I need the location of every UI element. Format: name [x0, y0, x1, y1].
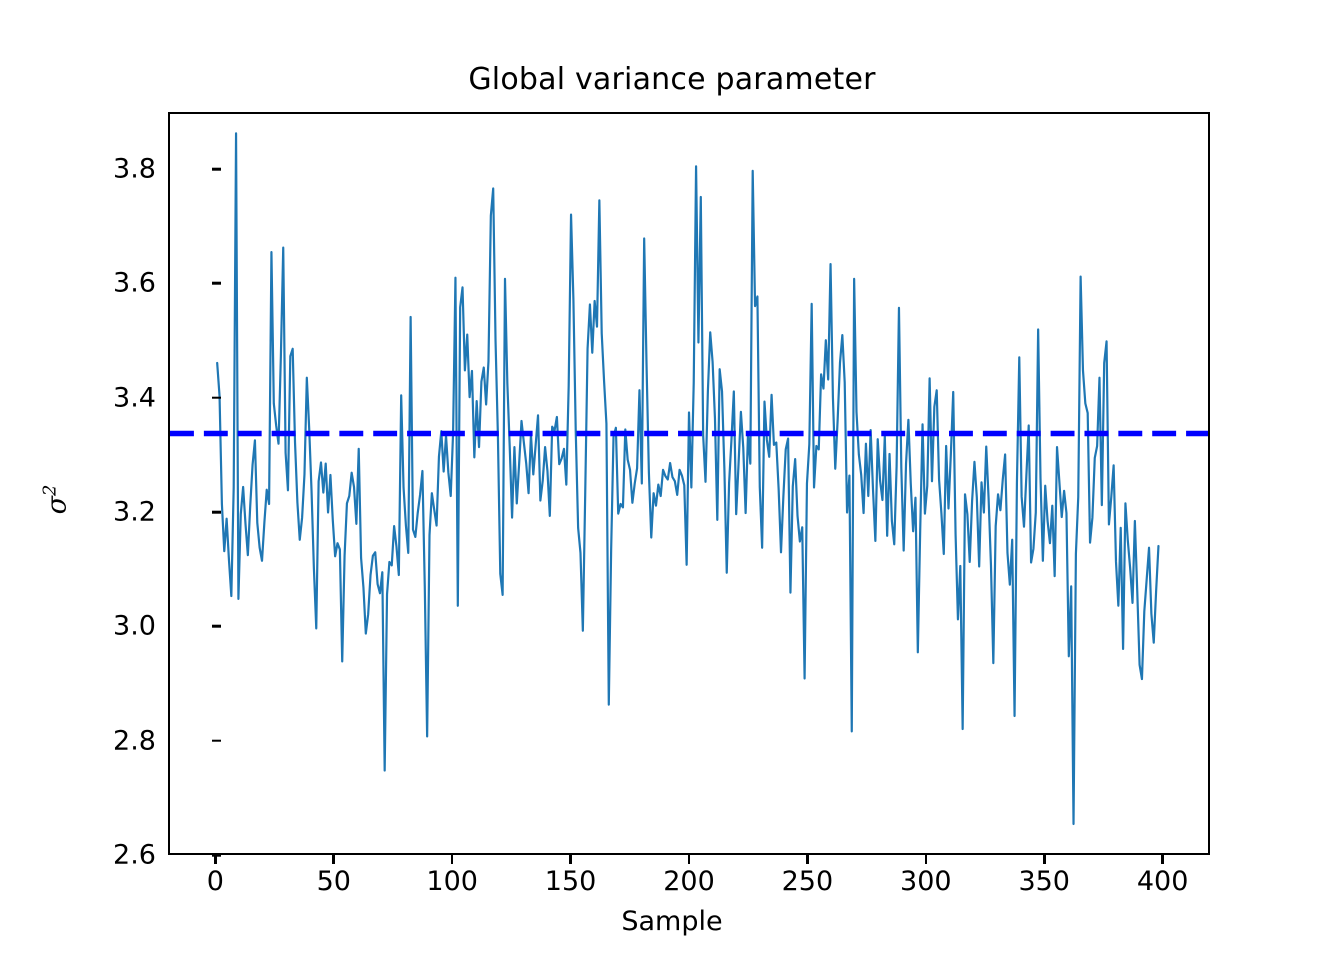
y-axis-label-base: σ [42, 496, 73, 514]
sigma2-trace-line [217, 133, 1158, 824]
y-tick-label: 3.4 [66, 382, 156, 413]
x-tick-label: 350 [984, 866, 1104, 897]
plot-svg [170, 114, 1208, 853]
x-axis-label: Sample [0, 906, 1344, 937]
y-tick-mark [212, 511, 221, 514]
x-tick-mark [925, 855, 928, 864]
y-tick-mark [212, 168, 221, 171]
x-tick-label: 250 [747, 866, 867, 897]
x-tick-mark [688, 855, 691, 864]
x-tick-label: 0 [155, 866, 275, 897]
y-axis-label: σ2 [40, 440, 73, 560]
y-tick-label: 2.8 [66, 725, 156, 756]
x-tick-label: 400 [1103, 866, 1223, 897]
y-tick-mark [212, 739, 221, 742]
y-tick-mark [212, 282, 221, 285]
x-tick-label: 100 [392, 866, 512, 897]
x-tick-label: 150 [511, 866, 631, 897]
x-tick-mark [806, 855, 809, 864]
y-axis-label-exponent: 2 [40, 485, 61, 496]
y-tick-label: 3.8 [66, 154, 156, 185]
matplotlib-figure: Global variance parameter 2.62.83.03.23.… [0, 0, 1344, 960]
x-tick-mark [1161, 855, 1164, 864]
y-tick-label: 3.2 [66, 497, 156, 528]
x-tick-mark [569, 855, 572, 864]
x-tick-mark [451, 855, 454, 864]
x-tick-mark [1043, 855, 1046, 864]
chart-title: Global variance parameter [0, 62, 1344, 97]
y-tick-label: 3.6 [66, 268, 156, 299]
x-tick-mark [214, 855, 217, 864]
y-tick-label: 3.0 [66, 611, 156, 642]
y-tick-mark [212, 625, 221, 628]
y-tick-mark [212, 396, 221, 399]
x-tick-label: 300 [866, 866, 986, 897]
x-tick-label: 50 [274, 866, 394, 897]
x-tick-label: 200 [629, 866, 749, 897]
x-tick-mark [332, 855, 335, 864]
plot-area [168, 112, 1210, 855]
